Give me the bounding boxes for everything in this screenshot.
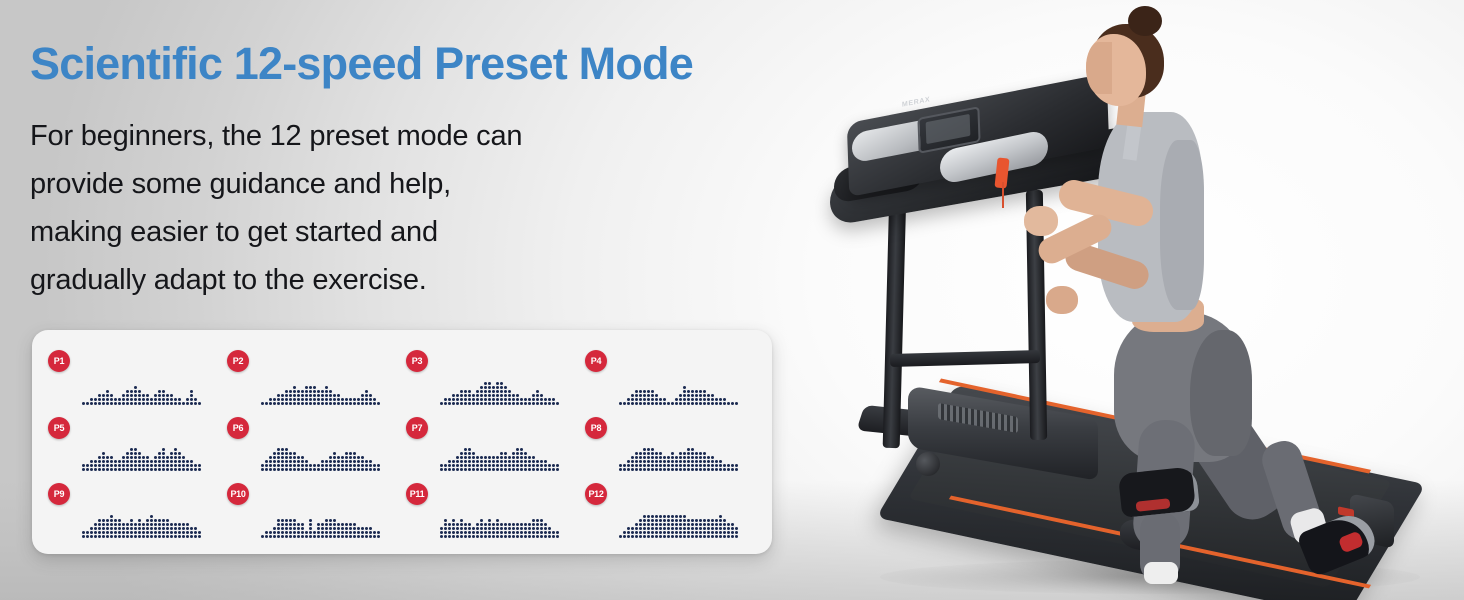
dot [532,394,535,397]
dot [468,390,471,393]
dot [647,464,650,467]
dot [317,394,320,397]
preset-program-p4[interactable]: P4 [583,344,762,411]
dot [162,527,165,530]
dot [496,531,499,534]
dot [349,402,352,405]
dot [361,394,364,397]
dot [512,460,515,463]
dot [496,519,499,522]
dot-column [468,390,471,405]
dot [440,535,443,538]
dot [703,519,706,522]
dot [98,468,101,471]
dot [492,527,495,530]
dot [377,464,380,467]
dot [508,535,511,538]
dot [277,402,280,405]
dot-column [82,402,85,405]
dot [281,448,284,451]
dot [719,460,722,463]
dot [496,390,499,393]
dot [460,468,463,471]
preset-program-p11[interactable]: P11 [404,477,583,544]
dot [703,390,706,393]
dot [444,535,447,538]
dot [695,452,698,455]
dot [707,456,710,459]
dot [687,523,690,526]
runner-shoe-front [1118,466,1200,518]
dot [293,452,296,455]
dot-column [122,456,125,471]
dot [305,398,308,401]
dot [353,456,356,459]
dot [126,468,129,471]
dot [464,535,467,538]
dot [281,394,284,397]
dot [110,394,113,397]
dot [544,527,547,530]
dot-column [540,519,543,538]
dot-column [313,531,316,538]
dot-column [520,448,523,471]
dot [532,535,535,538]
dot [186,464,189,467]
dot [703,531,706,534]
dot [122,394,125,397]
preset-program-p5[interactable]: P5 [46,411,225,478]
dot [500,402,503,405]
dot [627,527,630,530]
dot [520,448,523,451]
dot-column [647,390,650,405]
dot-column [460,390,463,405]
dot [345,535,348,538]
dot [285,402,288,405]
dot [154,398,157,401]
dot [82,464,85,467]
dot [548,527,551,530]
dot [146,398,149,401]
preset-dot-matrix-p6 [261,448,380,471]
dot [667,464,670,467]
dot [277,464,280,467]
dot [269,460,272,463]
dot [281,531,284,534]
dot [313,398,316,401]
dot-column [492,386,495,405]
dot [293,519,296,522]
dot [186,402,189,405]
dot [329,535,332,538]
dot [162,452,165,455]
dot-column [468,448,471,471]
dot [158,531,161,534]
dot [162,523,165,526]
dot [647,394,650,397]
dot [452,523,455,526]
dot [162,394,165,397]
dot-column [130,519,133,538]
dot [265,460,268,463]
dot-column [281,448,284,471]
preset-program-p1[interactable]: P1 [46,344,225,411]
dot [106,464,109,467]
dot [321,468,324,471]
dot [655,452,658,455]
dot-column [516,448,519,471]
dot [631,468,634,471]
dot [464,402,467,405]
dot [683,456,686,459]
dot [309,386,312,389]
dot-column [265,460,268,471]
preset-program-p2[interactable]: P2 [225,344,404,411]
dot-column [162,519,165,538]
dot-column [504,452,507,471]
preset-program-p6[interactable]: P6 [225,411,404,478]
dot [675,398,678,401]
dot [468,460,471,463]
dot [647,519,650,522]
dot [329,402,332,405]
dot-column [305,531,308,538]
dot [341,535,344,538]
dot-column [341,523,344,538]
dot-column [735,464,738,471]
dot-column [357,527,360,538]
dot [194,527,197,530]
dot [130,535,133,538]
dot [516,448,519,451]
dot [735,464,738,467]
dot [166,464,169,467]
dot [635,394,638,397]
dot [719,531,722,534]
dot-column [639,390,642,405]
dot [178,452,181,455]
preset-program-p8[interactable]: P8 [583,411,762,478]
dot [94,468,97,471]
dot [544,523,547,526]
dot [528,464,531,467]
dot-column [377,464,380,471]
dot [106,527,109,530]
dot [166,394,169,397]
dot [699,519,702,522]
dot [333,460,336,463]
dot [731,527,734,530]
dot [126,390,129,393]
dot [297,402,300,405]
dot [325,390,328,393]
dot [540,398,543,401]
dot [126,523,129,526]
dot-column [683,386,686,405]
dot [361,460,364,463]
dot [106,460,109,463]
dot-column [138,452,141,471]
dot [695,390,698,393]
dot-column [329,519,332,538]
dot [647,398,650,401]
treadmill-transport-wheel [916,452,940,476]
dot [687,468,690,471]
dot [293,527,296,530]
dot [691,456,694,459]
dot [520,527,523,530]
dot [297,390,300,393]
dot-column [659,452,662,471]
dot [476,531,479,534]
dot [170,464,173,467]
dot [82,468,85,471]
dot [528,402,531,405]
dot [695,460,698,463]
dot [146,519,149,522]
dot [667,456,670,459]
dot-column [186,398,189,405]
dot-column [190,460,193,471]
dot [122,523,125,526]
dot-column [631,527,634,538]
dot [460,402,463,405]
preset-program-p7[interactable]: P7 [404,411,583,478]
dot [687,460,690,463]
dot [452,402,455,405]
preset-program-p12[interactable]: P12 [583,477,762,544]
dot [285,452,288,455]
dot [460,523,463,526]
dot [102,402,105,405]
dot [313,531,316,534]
dot [118,464,121,467]
dot [281,464,284,467]
dot [496,394,499,397]
dot [369,468,372,471]
dot [138,523,141,526]
dot [174,464,177,467]
dot [476,398,479,401]
dot-column [627,527,630,538]
dot-column [532,394,535,405]
dot [98,464,101,467]
dot [452,535,455,538]
dot [269,398,272,401]
dot [488,398,491,401]
dot [719,523,722,526]
dot [524,460,527,463]
dot [154,456,157,459]
dot [699,531,702,534]
dot [623,464,626,467]
dot [655,460,658,463]
dot [667,519,670,522]
dot [548,535,551,538]
dot-column [166,394,169,405]
dot [345,527,348,530]
dot [635,468,638,471]
dot [102,456,105,459]
dot-column [333,452,336,471]
dot [297,535,300,538]
dot-column [146,456,149,471]
dot-column [281,394,284,405]
dot [683,394,686,397]
dot [94,535,97,538]
dot [305,390,308,393]
dot [329,531,332,534]
dot-column [122,394,125,405]
preset-badge-p1: P1 [48,350,70,372]
dot [166,460,169,463]
dot [643,456,646,459]
dot [484,535,487,538]
dot [635,531,638,534]
dot [663,464,666,467]
dot [297,464,300,467]
dot [86,535,89,538]
dot [142,460,145,463]
dot [337,523,340,526]
dot [460,394,463,397]
dot [373,398,376,401]
dot [703,535,706,538]
dot [301,390,304,393]
dot-column [301,456,304,471]
dot-column [643,448,646,471]
dot [727,468,730,471]
dot [273,535,276,538]
dot [536,460,539,463]
dot [134,448,137,451]
dot [532,519,535,522]
dot [134,398,137,401]
dot [683,468,686,471]
dot-column [647,515,650,538]
dot [333,527,336,530]
dot [460,464,463,467]
dot [313,394,316,397]
dot [536,398,539,401]
dot [500,382,503,385]
dot [528,398,531,401]
dot [170,460,173,463]
preset-program-p10[interactable]: P10 [225,477,404,544]
dot [269,464,272,467]
preset-program-p9[interactable]: P9 [46,477,225,544]
dot [687,519,690,522]
dot [194,398,197,401]
dot [464,452,467,455]
dot [500,452,503,455]
dot [178,531,181,534]
dot [524,398,527,401]
preset-dot-matrix-p9 [82,515,201,538]
dot-column [735,402,738,405]
dot [703,398,706,401]
dot [508,398,511,401]
dot-column [480,519,483,538]
dot [691,531,694,534]
dot [715,519,718,522]
dot [631,464,634,467]
dot [711,519,714,522]
dot [691,402,694,405]
dot-column [707,394,710,405]
dot [496,386,499,389]
preset-badge-p10: P10 [227,483,249,505]
dot [504,527,507,530]
dot [166,456,169,459]
preset-program-p3[interactable]: P3 [404,344,583,411]
dot-column [329,390,332,405]
dot [273,468,276,471]
dot [683,398,686,401]
dot [182,402,185,405]
dot [138,394,141,397]
dot [504,523,507,526]
dot-column [293,452,296,471]
dot [313,386,316,389]
dot-column [460,519,463,538]
runner-face-shading [1086,42,1112,94]
dot [516,398,519,401]
dot [659,464,662,467]
dot [373,535,376,538]
dot [683,386,686,389]
dot [345,523,348,526]
dot [516,464,519,467]
dot [309,394,312,397]
dot [508,464,511,467]
dot-column [289,519,292,538]
dot-column [448,398,451,405]
dot [496,464,499,467]
dot [651,390,654,393]
dot [452,468,455,471]
dot [94,402,97,405]
dot-column [647,448,650,471]
dot [488,382,491,385]
dot-column [114,519,117,538]
dot [723,523,726,526]
dot [707,460,710,463]
dot [687,390,690,393]
dot-column [719,460,722,471]
dot [301,468,304,471]
dot [118,531,121,534]
dot [731,535,734,538]
dot [671,519,674,522]
dot-column [349,398,352,405]
dot [675,535,678,538]
dot [321,394,324,397]
dot [524,452,527,455]
dot [321,390,324,393]
dot-column [727,402,730,405]
dot [735,527,738,530]
dot-column [146,394,149,405]
dot [520,468,523,471]
preset-badge-p4: P4 [585,350,607,372]
dot-column [699,390,702,405]
dot [309,402,312,405]
dot [679,531,682,534]
dot [130,468,133,471]
dot-column [528,398,531,405]
